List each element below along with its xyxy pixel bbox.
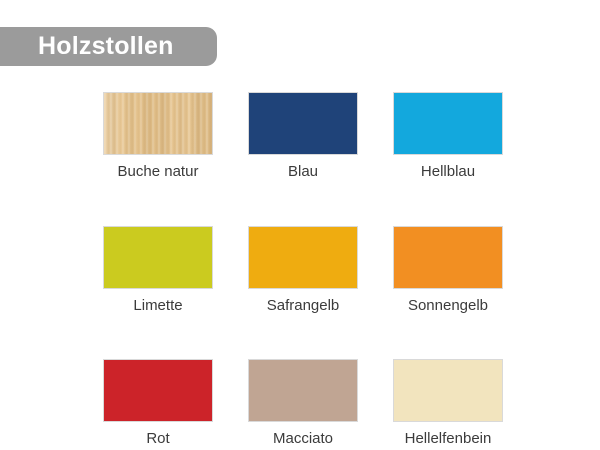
swatch-item[interactable]: Blau: [248, 92, 358, 181]
swatch-label: Hellblau: [393, 164, 503, 181]
swatch-label: Hellelfenbein: [393, 431, 503, 448]
swatch-color-chip[interactable]: [393, 359, 503, 422]
swatch-label: Safrangelb: [248, 298, 358, 315]
swatch-color-chip[interactable]: [248, 92, 358, 155]
color-swatch-grid: Buche naturBlauHellblauLimetteSafrangelb…: [103, 92, 513, 448]
swatch-color-chip[interactable]: [103, 92, 213, 155]
swatch-item[interactable]: Hellblau: [393, 92, 503, 181]
swatch-label: Blau: [248, 164, 358, 181]
swatch-color-chip[interactable]: [248, 226, 358, 289]
swatch-color-chip[interactable]: [103, 359, 213, 422]
swatch-item[interactable]: Macciato: [248, 359, 358, 448]
swatch-item[interactable]: Safrangelb: [248, 226, 358, 315]
swatch-item[interactable]: Rot: [103, 359, 213, 448]
header-banner: Holzstollen: [0, 27, 217, 66]
page-title: Holzstollen: [38, 34, 174, 59]
swatch-color-chip[interactable]: [248, 359, 358, 422]
swatch-label: Macciato: [248, 431, 358, 448]
swatch-color-chip[interactable]: [103, 226, 213, 289]
swatch-label: Rot: [103, 431, 213, 448]
swatch-label: Sonnengelb: [393, 298, 503, 315]
swatch-item[interactable]: Sonnengelb: [393, 226, 503, 315]
swatch-label: Limette: [103, 298, 213, 315]
swatch-item[interactable]: Limette: [103, 226, 213, 315]
swatch-color-chip[interactable]: [393, 92, 503, 155]
swatch-color-chip[interactable]: [393, 226, 503, 289]
swatch-label: Buche natur: [103, 164, 213, 181]
swatch-item[interactable]: Buche natur: [103, 92, 213, 181]
swatch-item[interactable]: Hellelfenbein: [393, 359, 503, 448]
